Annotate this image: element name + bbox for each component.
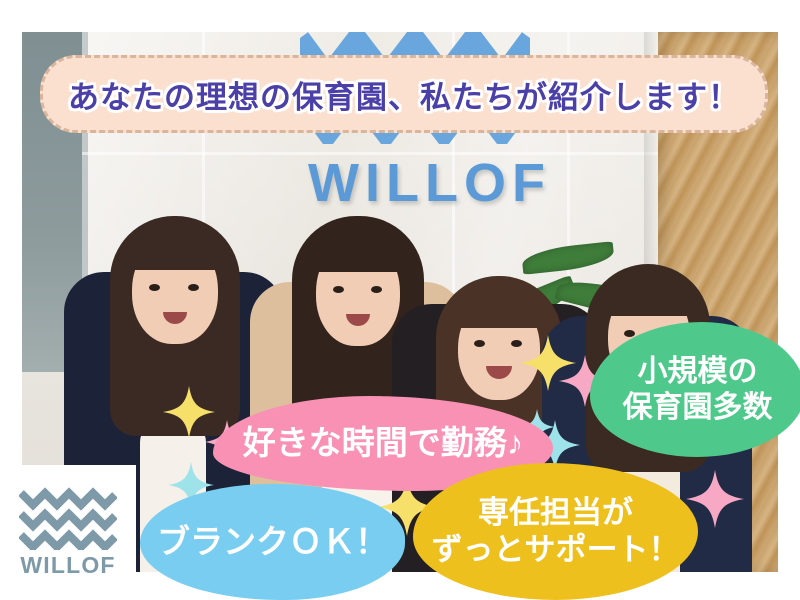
promo-banner-image: WILLOF: [0, 0, 800, 600]
zigzag-wave-icon: [19, 486, 117, 550]
willof-logo: WILLOF: [0, 465, 136, 600]
headline-banner: あなたの理想の保育園、私たちが紹介します！: [40, 55, 768, 133]
bubble-small-nursery-text: 小規模の保育園多数: [613, 354, 783, 425]
headline-text: あなたの理想の保育園、私たちが紹介します！: [68, 72, 740, 117]
bubble-flexible-hours-text: 好きな時間で勤務♪: [233, 424, 534, 463]
bubble-dedicated-support-text: 専任担当がずっとサポート！: [422, 495, 690, 568]
bubble-blank-ok-text: ブランクＯＫ！: [147, 523, 398, 562]
willof-wordmark: WILLOF: [20, 552, 115, 579]
bubble-dedicated-support: 専任担当がずっとサポート！: [413, 463, 698, 600]
bubble-blank-ok: ブランクＯＫ！: [140, 484, 405, 600]
